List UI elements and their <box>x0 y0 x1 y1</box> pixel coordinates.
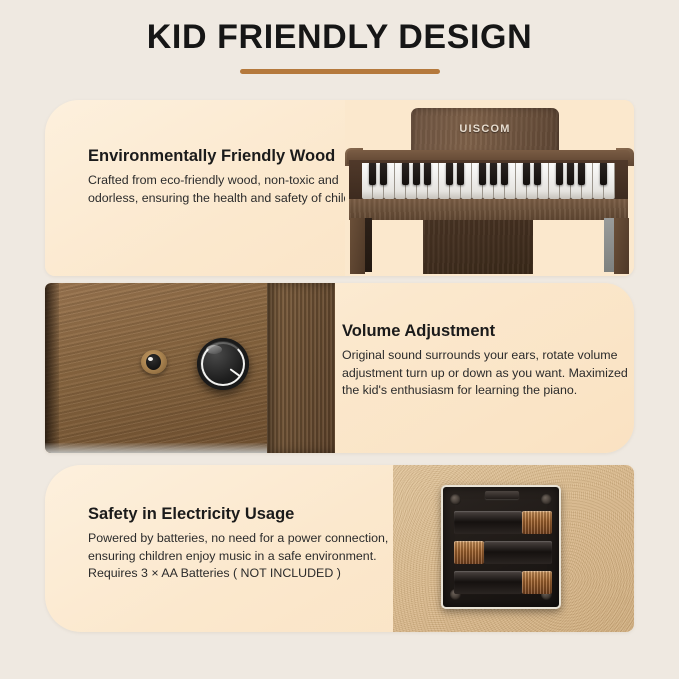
panel-text-block: Environmentally Friendly Wood Crafted fr… <box>88 146 388 207</box>
wood-bottom-edge <box>45 443 267 453</box>
battery-positive-cap <box>454 541 484 564</box>
battery-compartment-plate <box>441 485 561 609</box>
battery-body <box>454 511 522 534</box>
piano-black-key <box>413 163 420 185</box>
piano-black-key <box>490 163 497 185</box>
battery-positive-cap <box>522 511 552 534</box>
piano-white-key <box>439 163 450 199</box>
feature-panel-safety-in-electricity-usage: Safety in Electricity Usage Powered by b… <box>45 465 634 632</box>
knob-highlight <box>206 345 222 354</box>
audio-jack-port <box>141 350 167 374</box>
piano-white-key <box>472 163 483 199</box>
piano-black-key <box>578 163 585 185</box>
aa-battery <box>454 541 552 564</box>
panel-text-block: Volume Adjustment Original sound surroun… <box>342 321 632 400</box>
piano-keybed <box>349 160 628 202</box>
piano-black-key <box>556 163 563 185</box>
screw-icon <box>541 494 552 505</box>
wood-left-shadow <box>45 283 59 453</box>
piano-white-key <box>516 163 527 199</box>
panel-body: Original sound surrounds your ears, rota… <box>342 347 632 400</box>
piano-black-key <box>446 163 453 185</box>
piano-black-key <box>501 163 508 185</box>
screw-icon <box>450 494 461 505</box>
piano-right-shadow <box>604 218 614 272</box>
title-accent-rule <box>240 69 440 74</box>
compartment-latch <box>485 491 519 499</box>
piano-black-key <box>534 163 541 185</box>
page-header: KID FRIENDLY DESIGN <box>0 0 679 74</box>
wood-side-edge <box>267 283 335 453</box>
aa-battery <box>454 571 552 594</box>
feature-panel-environmentally-friendly-wood: Environmentally Friendly Wood Crafted fr… <box>45 100 634 276</box>
piano-right-leg <box>614 218 629 274</box>
piano-white-key <box>593 163 604 199</box>
piano-black-key <box>567 163 574 185</box>
piano-white-key <box>362 163 373 199</box>
piano-black-key <box>424 163 431 185</box>
panel-text-block: Safety in Electricity Usage Powered by b… <box>88 504 413 583</box>
volume-knob-photo <box>45 283 335 453</box>
piano-black-key <box>380 163 387 185</box>
piano-apron <box>349 199 628 220</box>
jack-highlight <box>148 357 153 361</box>
battery-body <box>484 541 552 564</box>
piano-black-key <box>479 163 486 185</box>
battery-body <box>454 571 522 594</box>
piano-white-key <box>549 163 560 199</box>
piano-left-leg <box>350 218 365 274</box>
piano-music-rest: UISCOM <box>411 108 559 156</box>
piano-black-key <box>457 163 464 185</box>
panel-heading: Safety in Electricity Usage <box>88 504 413 524</box>
panel-body: Crafted from eco-friendly wood, non-toxi… <box>88 172 388 207</box>
battery-compartment-photo <box>393 465 634 632</box>
piano-black-key <box>600 163 607 185</box>
piano-keys <box>362 163 615 199</box>
piano-black-key <box>523 163 530 185</box>
piano-black-key <box>369 163 376 185</box>
piano-black-key <box>402 163 409 185</box>
piano-white-key <box>395 163 406 199</box>
panel-heading: Volume Adjustment <box>342 321 632 341</box>
toy-piano-photo: UISCOM <box>345 100 634 276</box>
battery-positive-cap <box>522 571 552 594</box>
feature-panel-volume-adjustment: Volume Adjustment Original sound surroun… <box>45 283 634 453</box>
aa-battery <box>454 511 552 534</box>
panel-body: Powered by batteries, no need for a powe… <box>88 530 413 583</box>
brand-logo: UISCOM <box>411 123 559 135</box>
panel-heading: Environmentally Friendly Wood <box>88 146 388 166</box>
page-title: KID FRIENDLY DESIGN <box>0 17 679 57</box>
piano-back-panel <box>423 220 533 274</box>
volume-knob <box>197 338 249 390</box>
